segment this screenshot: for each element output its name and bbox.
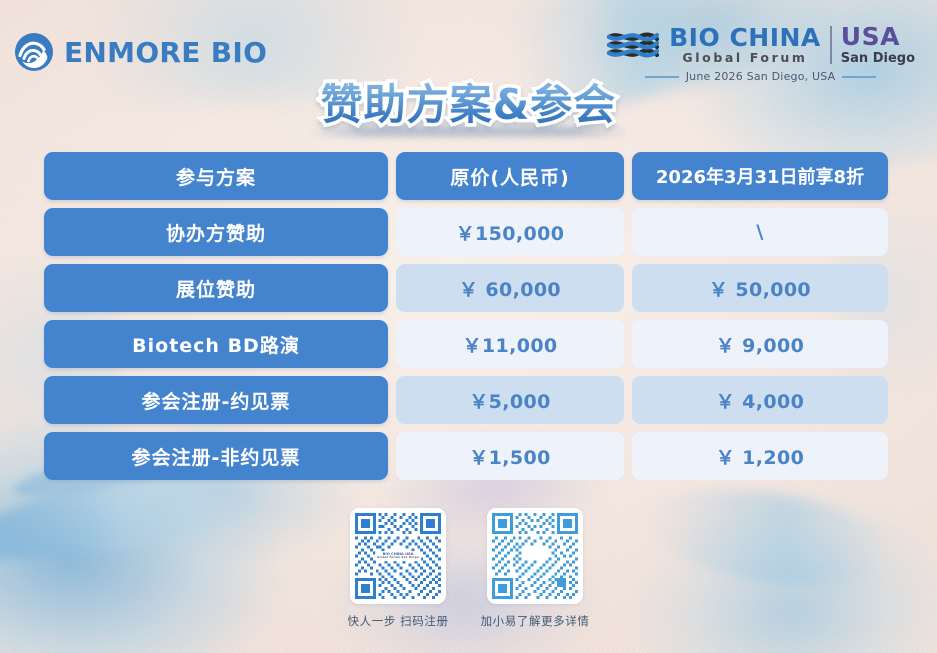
register-qr[interactable]: BIO CHINA USA Global Forum San Diego (350, 508, 446, 604)
qr-block-wechat: 加小易了解更多详情 (481, 508, 590, 629)
logo-divider (830, 26, 832, 64)
enmore-wave-icon (14, 32, 54, 72)
usa-label: USA (841, 24, 915, 49)
page-title-text: 赞助方案&参会 (321, 80, 617, 129)
row-price-value: ￥5,000 (396, 376, 624, 424)
qr-center-logo: BIO CHINA USA Global Forum San Diego (375, 551, 421, 561)
qr-block-register: BIO CHINA USA Global Forum San Diego 快人一… (348, 508, 449, 629)
wechat-qr-caption: 加小易了解更多详情 (481, 613, 590, 629)
row-price-value: ￥150,000 (396, 208, 624, 256)
row-promo-value: ￥ 50,000 (632, 264, 888, 312)
qr-logo-sub: Global Forum San Diego (377, 557, 419, 560)
header-price: 原价(人民币) (396, 152, 624, 200)
san-diego-label: San Diego (841, 52, 915, 65)
row-price-value: ￥11,000 (396, 320, 624, 368)
poster-canvas: ENMORE BIO BIO CHINA Global Forum (0, 0, 937, 653)
rule-left-icon (645, 76, 679, 78)
row-promo-value: \ (632, 208, 888, 256)
enmore-bio-wordmark: ENMORE BIO (64, 36, 267, 69)
row-promo-value: ￥ 4,000 (632, 376, 888, 424)
header-promo: 2026年3月31日前享8折 (632, 152, 888, 200)
row-plan-label: 协办方赞助 (44, 208, 388, 256)
enmore-bio-logo: ENMORE BIO (14, 32, 267, 72)
page-title: 赞助方案&参会 赞助方案&参会 (0, 82, 937, 128)
register-qr-caption: 快人一步 扫码注册 (348, 613, 449, 629)
table-header-row: 参与方案 原价(人民币) 2026年3月31日前享8折 (44, 152, 888, 200)
table-row: 协办方赞助 ￥150,000 \ (44, 208, 888, 256)
bio-china-knot-icon (606, 29, 660, 61)
row-plan-label: Biotech BD路演 (44, 320, 388, 368)
row-plan-label: 参会注册-非约见票 (44, 432, 388, 480)
table-row: 参会注册-约见票 ￥5,000 ￥ 4,000 (44, 376, 888, 424)
table-row: 展位赞助 ￥ 60,000 ￥ 50,000 (44, 264, 888, 312)
table-row: 参会注册-非约见票 ￥1,500 ￥ 1,200 (44, 432, 888, 480)
row-price-value: ￥ 60,000 (396, 264, 624, 312)
pricing-table: 参与方案 原价(人民币) 2026年3月31日前享8折 协办方赞助 ￥150,0… (44, 152, 888, 480)
row-promo-value: ￥ 1,200 (632, 432, 888, 480)
table-row: Biotech BD路演 ￥11,000 ￥ 9,000 (44, 320, 888, 368)
wechat-qr-image (492, 513, 578, 599)
row-price-value: ￥1,500 (396, 432, 624, 480)
bio-china-title: BIO CHINA (669, 25, 821, 50)
rule-right-icon (842, 76, 876, 78)
row-plan-label: 展位赞助 (44, 264, 388, 312)
bio-china-logo: BIO CHINA Global Forum USA San Diego Jun… (606, 24, 915, 83)
bio-china-subtitle: Global Forum (669, 52, 821, 65)
row-promo-value: ￥ 9,000 (632, 320, 888, 368)
wechat-qr[interactable] (487, 508, 583, 604)
row-plan-label: 参会注册-约见票 (44, 376, 388, 424)
qr-code-area: BIO CHINA USA Global Forum San Diego 快人一… (0, 508, 937, 629)
header-plan: 参与方案 (44, 152, 388, 200)
